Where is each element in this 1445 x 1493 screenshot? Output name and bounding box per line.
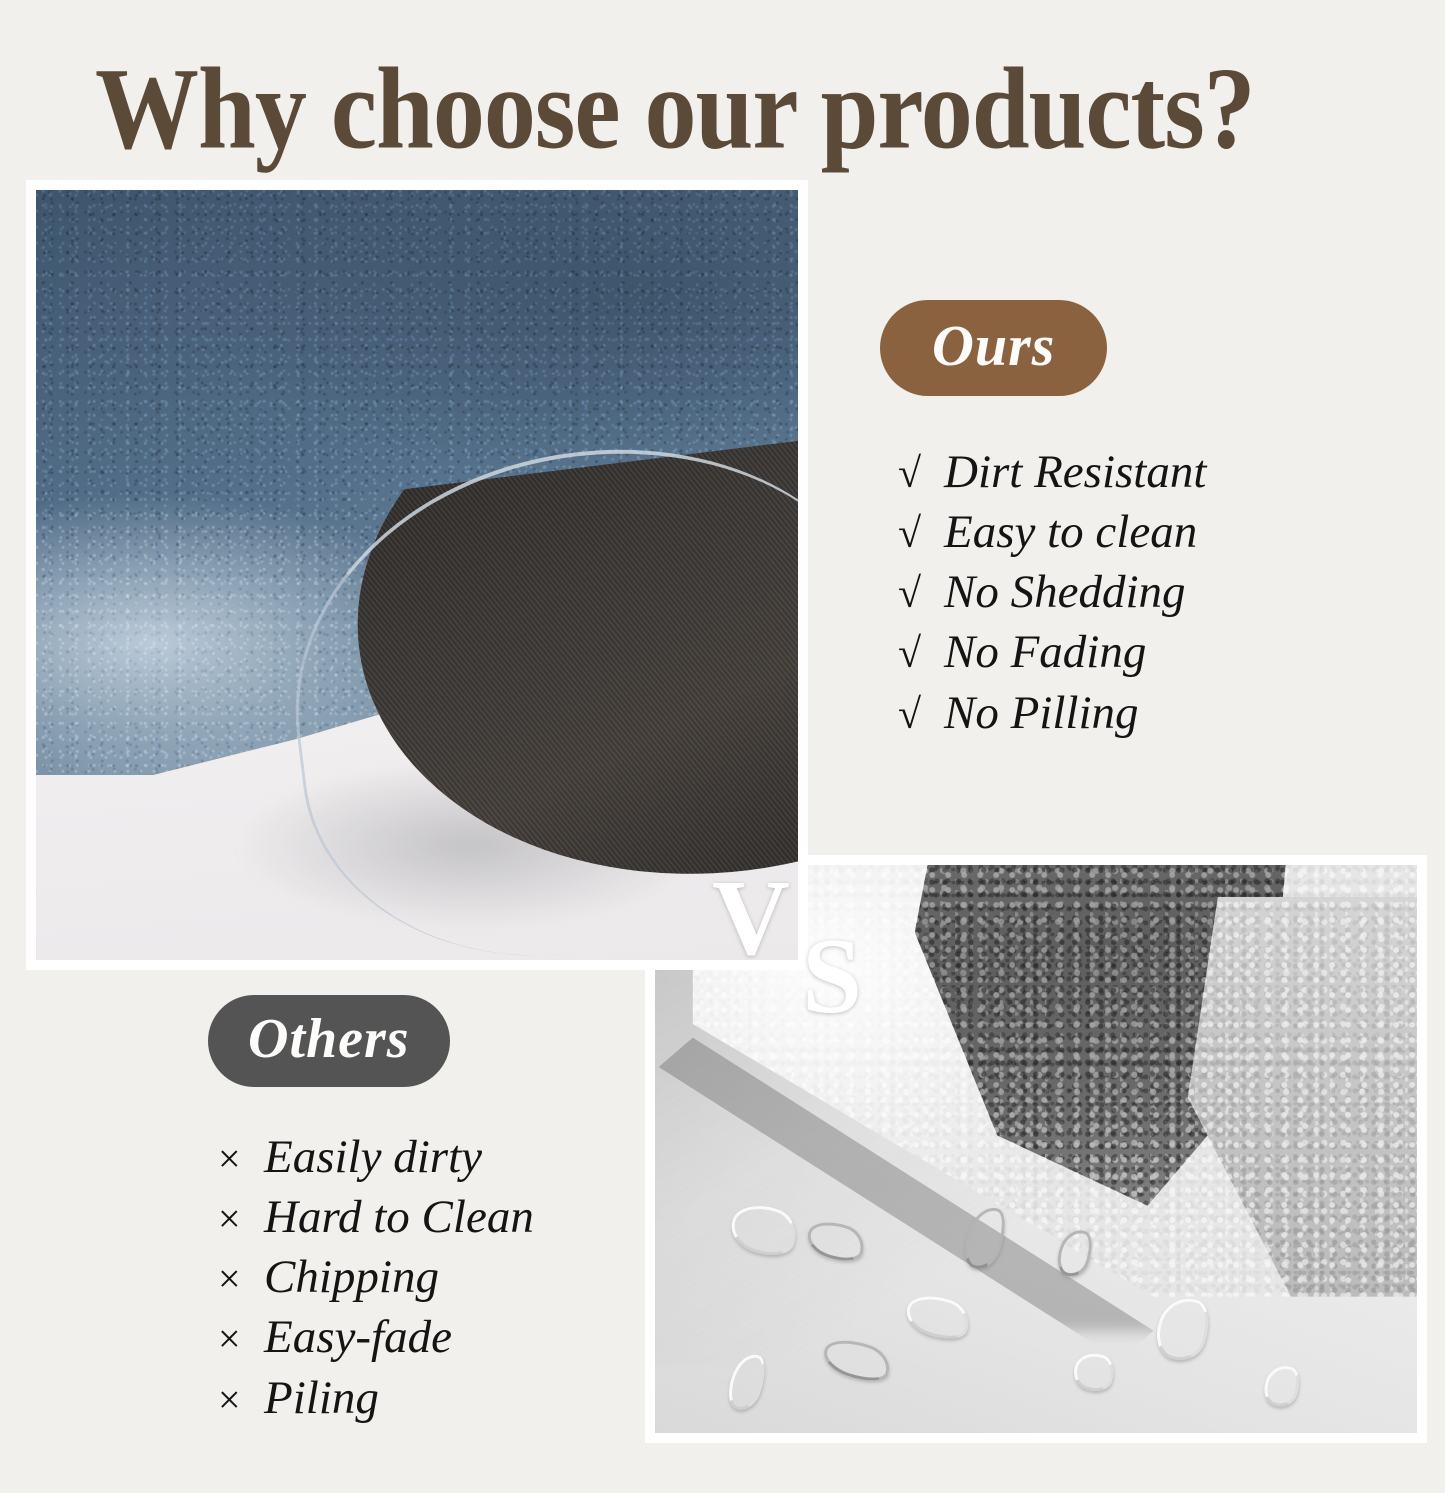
ours-product-photo <box>36 190 798 960</box>
shed-thread <box>967 1206 997 1264</box>
list-item-label: No Pilling <box>944 683 1139 743</box>
shed-thread <box>1059 1229 1085 1271</box>
check-icon: √ <box>898 628 944 682</box>
shed-thread <box>1074 1353 1108 1385</box>
check-icon: √ <box>898 689 944 743</box>
list-item-label: Piling <box>264 1368 379 1428</box>
others-badge: Others <box>208 995 450 1087</box>
shed-thread <box>823 1342 885 1372</box>
cross-icon: × <box>218 1133 264 1184</box>
cross-icon: × <box>218 1374 264 1425</box>
list-item: √ Dirt Resistant <box>898 442 1400 502</box>
list-item-label: Easy-fade <box>264 1307 452 1367</box>
check-icon: √ <box>898 508 944 562</box>
comparison-infographic: Why choose our products? <box>0 0 1445 1493</box>
list-item: √ No Fading <box>898 622 1400 682</box>
list-item-label: Hard to Clean <box>264 1187 534 1247</box>
list-item: √ No Shedding <box>898 562 1400 622</box>
shed-thread <box>731 1206 791 1248</box>
check-icon: √ <box>898 448 944 502</box>
shed-thread <box>1158 1297 1202 1355</box>
others-drawback-list: × Easily dirty × Hard to Clean × Chippin… <box>218 1127 728 1428</box>
check-icon: √ <box>898 568 944 622</box>
cross-icon: × <box>218 1253 264 1304</box>
list-item-label: Chipping <box>264 1247 439 1307</box>
list-item-label: No Fading <box>944 622 1146 682</box>
list-item: √ Easy to clean <box>898 502 1400 562</box>
ours-section: Ours √ Dirt Resistant √ Easy to clean √ … <box>880 300 1400 743</box>
blue-mat-scene <box>36 190 798 960</box>
shed-thread <box>731 1353 757 1405</box>
cross-icon: × <box>218 1193 264 1244</box>
list-item-label: No Shedding <box>944 562 1186 622</box>
shed-thread <box>1265 1365 1293 1401</box>
list-item-label: Dirt Resistant <box>944 442 1206 502</box>
list-item-label: Easy to clean <box>944 502 1197 562</box>
cross-icon: × <box>218 1313 264 1364</box>
others-section: Others × Easily dirty × Hard to Clean × … <box>208 995 728 1428</box>
list-item: √ No Pilling <box>898 683 1400 743</box>
shed-thread <box>807 1223 859 1253</box>
list-item: × Piling <box>218 1368 728 1428</box>
list-item: × Chipping <box>218 1247 728 1307</box>
page-title: Why choose our products? <box>95 48 1365 170</box>
list-item-label: Easily dirty <box>264 1127 482 1187</box>
list-item: × Easy-fade <box>218 1307 728 1367</box>
list-item: × Easily dirty <box>218 1127 728 1187</box>
ours-product-photo-frame <box>26 180 808 970</box>
ours-benefit-list: √ Dirt Resistant √ Easy to clean √ No Sh… <box>898 442 1400 743</box>
ours-badge: Ours <box>880 300 1107 396</box>
list-item: × Hard to Clean <box>218 1187 728 1247</box>
shed-thread <box>906 1297 964 1331</box>
